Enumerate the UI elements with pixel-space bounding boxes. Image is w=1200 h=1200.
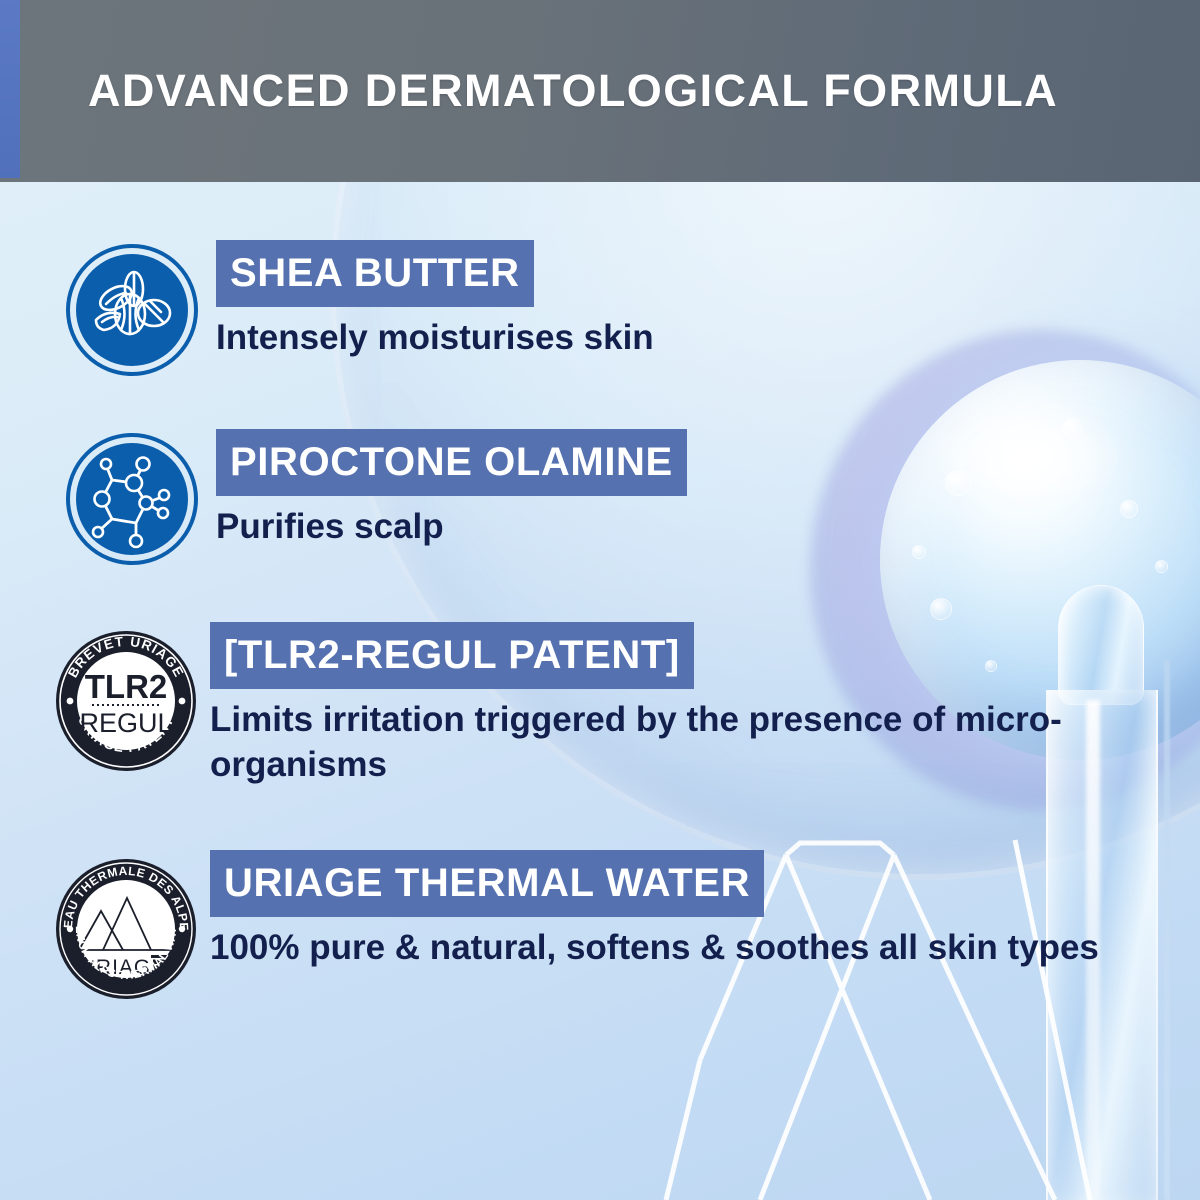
feature-label: SHEA BUTTER [216,240,534,307]
bubble-2 [1000,440,1016,456]
feature-label: [TLR2-REGUL PATENT] [210,622,694,689]
feature-item-uriage-thermal-water: URIAGE L'EAU THERMALE DES ALPES FRENCH A… [50,850,1099,1004]
sphere-highlight [930,395,1130,515]
icon-slot: BREVET URIAGE URIAGE PATENT TLR2 REGUL [50,622,202,788]
feature-item-piroctone-olamine: PIROCTONE OLAMINE Purifies scalp [56,429,687,565]
bubble-5 [930,598,952,620]
icon-slot [56,240,208,376]
feature-description: Limits irritation triggered by the prese… [210,698,1130,788]
feature-description: Purifies scalp [216,505,687,550]
feature-label: URIAGE THERMAL WATER [210,850,764,917]
header-banner: ADVANCED DERMATOLOGICAL FORMULA [0,0,1200,182]
bubble-1 [945,470,971,496]
feature-text: [TLR2-REGUL PATENT] Limits irritation tr… [202,622,1130,788]
bubble-3 [1062,418,1082,438]
icon-slot [56,429,208,565]
uriage-thermal-water-badge: URIAGE L'EAU THERMALE DES ALPES FRENCH A… [51,854,201,1004]
bubble-6 [1120,500,1138,518]
feature-description: Intensely moisturises skin [216,316,654,361]
feature-text: PIROCTONE OLAMINE Purifies scalp [208,429,687,565]
bubble-4 [912,545,926,559]
header-accent-bar [0,0,20,178]
tlr2-regul-patent-badge: BREVET URIAGE URIAGE PATENT TLR2 REGUL [51,626,201,776]
ampoule-right-edge [1164,660,1170,1200]
feature-description: 100% pure & natural, softens & soothes a… [210,926,1099,971]
page-title: ADVANCED DERMATOLOGICAL FORMULA [88,65,1058,117]
badge-center-top-text: TLR2 [85,668,168,705]
feature-item-tlr2-regul-patent: BREVET URIAGE URIAGE PATENT TLR2 REGUL [… [50,622,1130,788]
feature-item-shea-butter: SHEA BUTTER Intensely moisturises skin [56,240,654,376]
feature-text: URIAGE THERMAL WATER 100% pure & natural… [202,850,1099,1004]
feature-label: PIROCTONE OLAMINE [216,429,687,496]
feature-text: SHEA BUTTER Intensely moisturises skin [208,240,654,376]
product-infographic: ADVANCED DERMATOLOGICAL FORMULA [0,0,1200,1200]
shea-nuts-icon [66,244,198,376]
badge-center-bottom-text: REGUL [79,708,172,738]
bubble-7 [1155,560,1168,573]
molecule-icon [66,433,198,565]
icon-slot: URIAGE L'EAU THERMALE DES ALPES FRENCH A… [50,850,202,1004]
